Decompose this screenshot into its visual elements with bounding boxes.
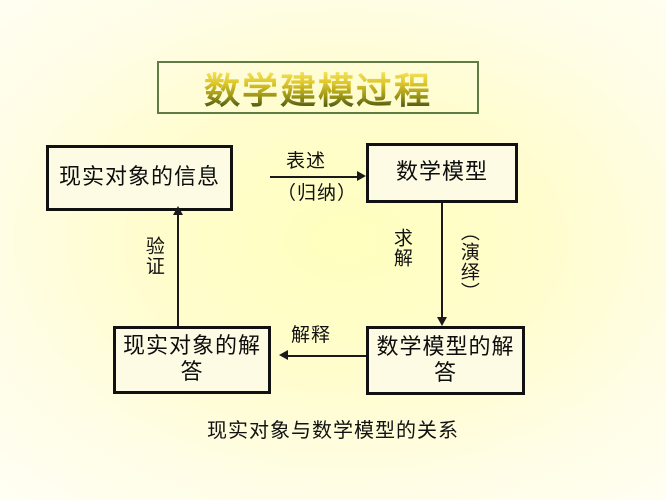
edge-label-interpret: 解释 [291, 320, 331, 347]
node-label: 现实对象的解答 [116, 334, 268, 386]
node-label: 现实对象的信息 [59, 165, 220, 191]
node-label: 数学模型 [396, 160, 488, 186]
edge-line-verify [177, 214, 179, 326]
edge-line-solve [441, 203, 443, 318]
edge-arrowhead-express [357, 171, 366, 181]
title-box: 数学建模过程 [157, 61, 479, 114]
slide-canvas: 数学建模过程 现实对象的信息 数学模型 现实对象的解答 数学模型的解答 表述 （… [0, 0, 666, 500]
edge-label-solve: 求解 [390, 228, 412, 268]
edge-arrowhead-verify [173, 206, 183, 215]
page-title: 数学建模过程 [159, 63, 477, 112]
edge-label-deduce: （演绎） [457, 222, 479, 302]
edge-label-verify: 验证 [142, 236, 164, 276]
node-math-model[interactable]: 数学模型 [366, 143, 518, 203]
edge-arrowhead-interpret [279, 350, 288, 360]
node-real-object-answer[interactable]: 现实对象的解答 [113, 326, 271, 394]
edge-label-express: 表述 [286, 146, 326, 173]
node-math-model-answer[interactable]: 数学模型的解答 [366, 326, 525, 395]
edge-label-induce: （归纳） [277, 178, 357, 205]
node-real-object-info[interactable]: 现实对象的信息 [46, 145, 233, 211]
edge-arrowhead-solve [437, 317, 447, 326]
diagram-caption: 现实对象与数学模型的关系 [0, 414, 666, 443]
edge-line-interpret [288, 355, 366, 357]
node-label: 数学模型的解答 [369, 335, 522, 387]
